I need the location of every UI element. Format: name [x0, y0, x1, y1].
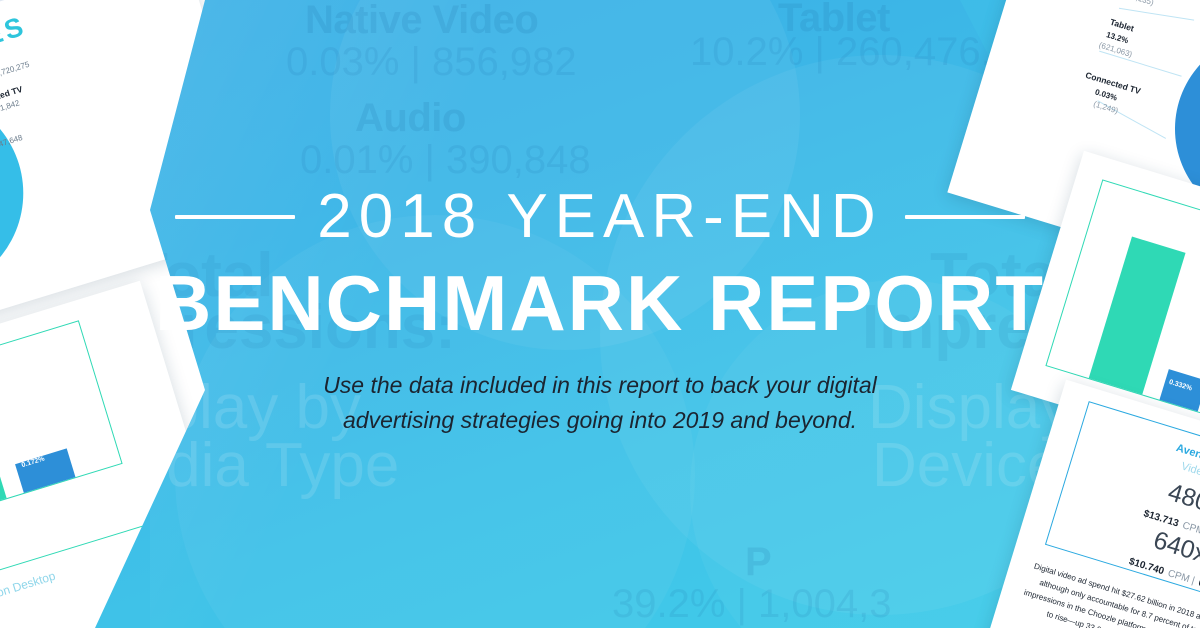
donut-value-connected-tv: 0.06% | 1,651,842 — [0, 97, 21, 126]
leader-line-other — [1119, 8, 1194, 21]
page-title: BENCHMARK REPORT — [0, 264, 1200, 342]
watermark-p-label: P — [745, 540, 771, 585]
divider-right — [905, 215, 1025, 219]
leader-line-tablet — [1099, 51, 1182, 77]
subtitle-line-2: advertising strategies going into 2019 a… — [0, 403, 1200, 438]
decorative-stripes — [0, 0, 178, 33]
watermark-p-value: 39.2% | 1,004,3 — [612, 582, 892, 627]
watermark-tablet-label: Tablet — [778, 0, 890, 41]
divider-left — [175, 215, 295, 219]
poster-canvas: DEVICE TYPES Total Impressions: Display … — [0, 0, 1200, 628]
year-label: 2018 YEAR-END — [317, 186, 882, 248]
subtitle-line-1: Use the data included in this report to … — [0, 368, 1200, 403]
headline-block: 2018 YEAR-END BENCHMARK REPORT Use the d… — [0, 186, 1200, 437]
donut2-value-other: (10,135) — [1124, 0, 1155, 7]
year-line: 2018 YEAR-END — [0, 186, 1200, 248]
subtitle: Use the data included in this report to … — [0, 368, 1200, 437]
bar-extra — [15, 448, 75, 492]
